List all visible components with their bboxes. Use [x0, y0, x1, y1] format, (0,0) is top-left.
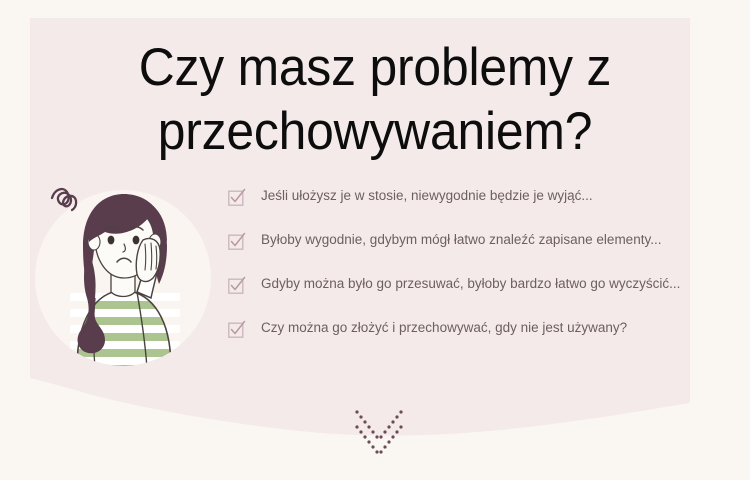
checkbox-checked-icon[interactable] — [228, 189, 245, 206]
dotted-double-chevron-down[interactable] — [345, 408, 415, 460]
list-item-label: Gdyby można było go przesuwać, byłoby ba… — [261, 274, 680, 294]
list-item-label: Jeśli ułożysz je w stosie, niewygodnie b… — [261, 186, 593, 206]
illustration-svg — [25, 180, 215, 370]
checkbox-checked-icon[interactable] — [228, 321, 245, 338]
eye-left — [108, 236, 115, 245]
eye-right — [133, 236, 140, 245]
list-item[interactable]: Byłoby wygodnie, gdybym mógł łatwo znale… — [228, 230, 750, 274]
list-item[interactable]: Czy można go złożyć i przechowywać, gdy … — [228, 318, 750, 362]
list-item-label: Czy można go złożyć i przechowywać, gdy … — [261, 318, 627, 338]
benefits-checklist: Jeśli ułożysz je w stosie, niewygodnie b… — [228, 186, 750, 362]
list-item[interactable]: Jeśli ułożysz je w stosie, niewygodnie b… — [228, 186, 750, 230]
list-item[interactable]: Gdyby można było go przesuwać, byłoby ba… — [228, 274, 750, 318]
promo-banner: Czy masz problemy z przechowywaniem? — [0, 0, 750, 480]
list-item-label: Byłoby wygodnie, gdybym mógł łatwo znale… — [261, 230, 661, 250]
checkbox-checked-icon[interactable] — [228, 233, 245, 250]
checkbox-checked-icon[interactable] — [228, 277, 245, 294]
worried-woman-illustration — [25, 180, 215, 370]
page-title: Czy masz problemy z przechowywaniem? — [60, 36, 690, 164]
